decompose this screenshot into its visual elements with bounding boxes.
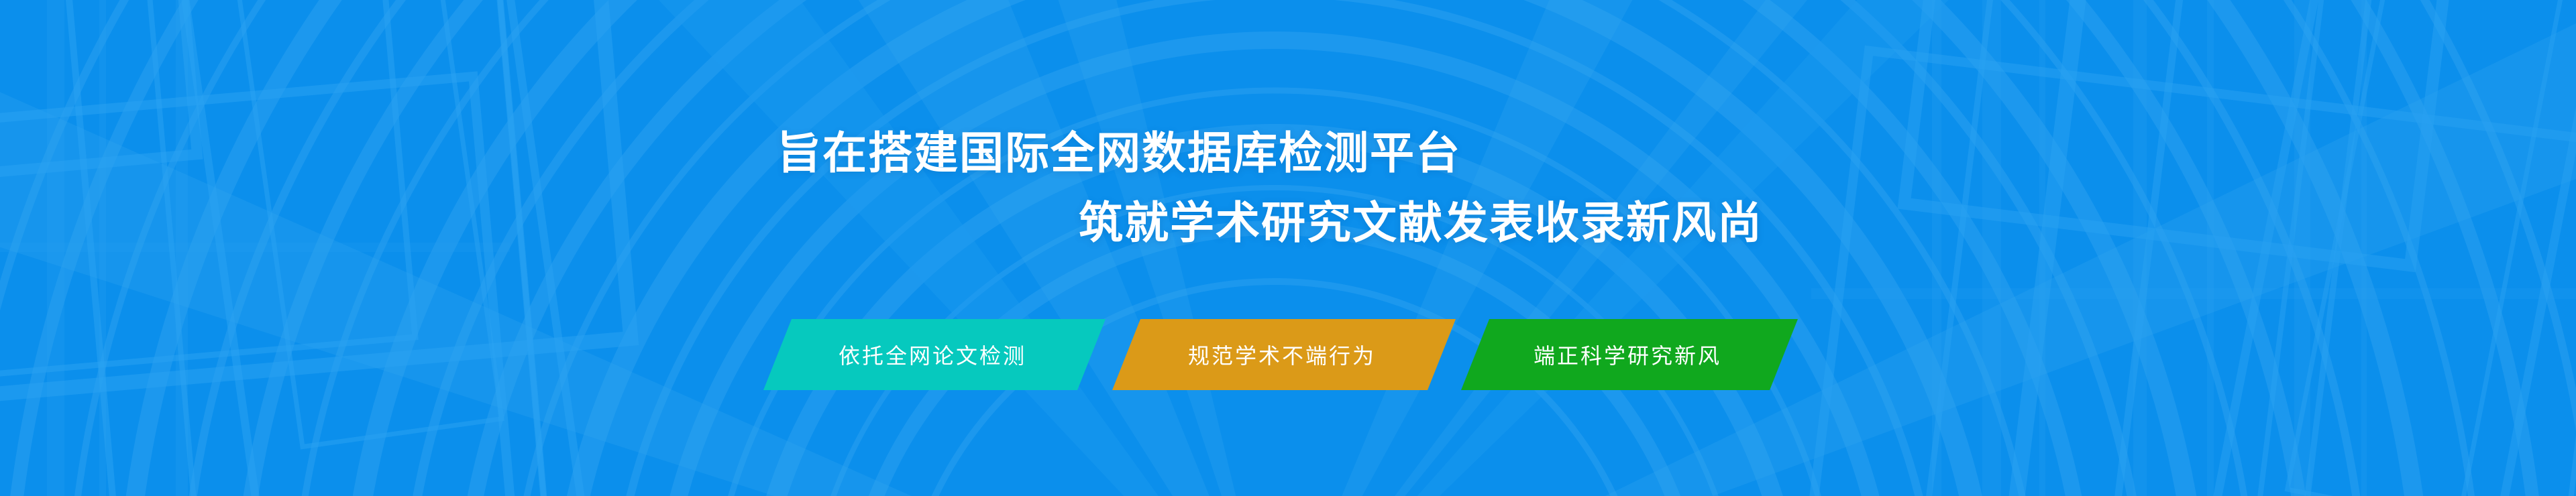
- headline-line-1: 旨在搭建国际全网数据库检测平台: [777, 131, 2576, 176]
- feature-tag-quan-wang-lun-wen-jian-ce[interactable]: 依托全网论文检测: [763, 319, 1106, 390]
- feature-tag-duan-zheng-ke-xue-yan-jiu[interactable]: 端正科学研究新风: [1461, 319, 1798, 390]
- promo-banner: 旨在搭建国际全网数据库检测平台 筑就学术研究文献发表收录新风尚 依托全网论文检测…: [0, 0, 2576, 496]
- feature-tag-gui-fan-xue-shu-bu-duan[interactable]: 规范学术不端行为: [1112, 319, 1456, 390]
- headline-block: 旨在搭建国际全网数据库检测平台 筑就学术研究文献发表收录新风尚: [0, 131, 2576, 245]
- feature-tag-strip: 依托全网论文检测 规范学术不端行为 端正科学研究新风: [758, 319, 1831, 391]
- feature-tag-label: 端正科学研究新风: [1534, 339, 1721, 370]
- feature-tag-label: 规范学术不端行为: [1188, 339, 1376, 370]
- feature-tag-label: 依托全网论文检测: [839, 339, 1026, 370]
- headline-line-2: 筑就学术研究文献发表收录新风尚: [1079, 201, 2576, 245]
